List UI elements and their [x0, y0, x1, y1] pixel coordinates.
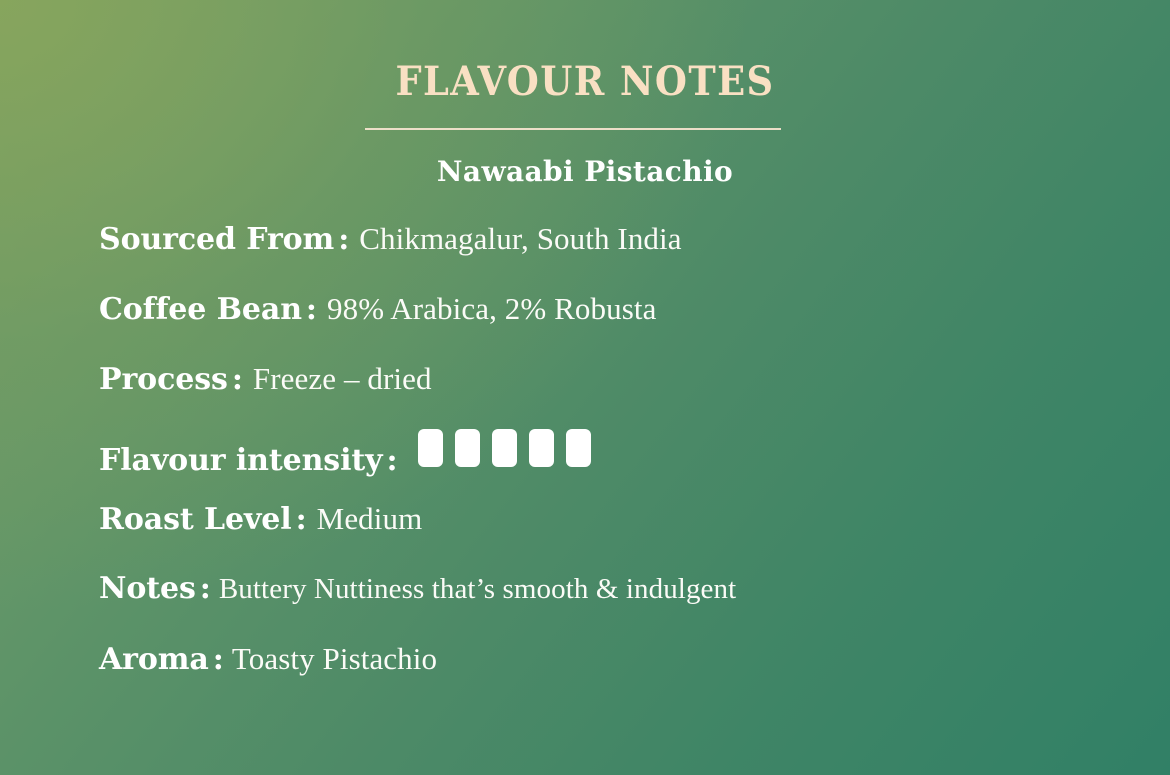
detail-row-roast-level: Roast Level : Medium: [99, 502, 1099, 572]
flavour-intensity-meter: [402, 429, 591, 467]
detail-separator: :: [382, 444, 401, 478]
detail-separator: :: [334, 223, 353, 257]
detail-value: Freeze – dried: [247, 362, 432, 396]
intensity-pip: [566, 429, 591, 467]
detail-value: Toasty Pistachio: [228, 642, 437, 676]
detail-separator: :: [196, 572, 215, 606]
intensity-pip: [529, 429, 554, 467]
detail-value: Medium: [311, 502, 423, 536]
detail-label: Coffee Bean: [99, 293, 302, 327]
product-name: Nawaabi Pistachio: [0, 152, 1170, 192]
detail-row-aroma: Aroma : Toasty Pistachio: [99, 642, 1099, 712]
detail-value: Buttery Nuttiness that’s smooth & indulg…: [215, 572, 736, 606]
detail-row-coffee-bean: Coffee Bean : 98% Arabica, 2% Robusta: [99, 292, 1099, 362]
detail-label: Flavour intensity: [99, 444, 382, 478]
detail-row-process: Process : Freeze – dried: [99, 362, 1099, 432]
detail-separator: :: [209, 643, 228, 677]
detail-row-notes: Notes : Buttery Nuttiness that’s smooth …: [99, 572, 1099, 642]
detail-label: Process: [99, 363, 228, 397]
detail-label: Notes: [99, 572, 196, 606]
detail-separator: :: [228, 363, 247, 397]
intensity-pip: [418, 429, 443, 467]
detail-separator: :: [292, 503, 311, 537]
detail-label: Roast Level: [99, 503, 292, 537]
intensity-pip: [455, 429, 480, 467]
detail-list: Sourced From : Chikmagalur, South India …: [99, 222, 1099, 712]
flavour-notes-card: Flavour Notes Nawaabi Pistachio Sourced …: [0, 0, 1170, 775]
detail-row-flavour-intensity: Flavour intensity :: [99, 432, 1099, 502]
detail-row-sourced-from: Sourced From : Chikmagalur, South India: [99, 222, 1099, 292]
detail-value: 98% Arabica, 2% Robusta: [321, 292, 656, 326]
detail-label: Sourced From: [99, 223, 334, 257]
card-header: Flavour Notes: [0, 0, 1170, 106]
title-divider: [365, 128, 781, 130]
page-title: Flavour Notes: [47, 0, 1123, 106]
intensity-pip: [492, 429, 517, 467]
detail-value: Chikmagalur, South India: [353, 222, 681, 256]
detail-label: Aroma: [99, 643, 209, 677]
detail-separator: :: [302, 293, 321, 327]
